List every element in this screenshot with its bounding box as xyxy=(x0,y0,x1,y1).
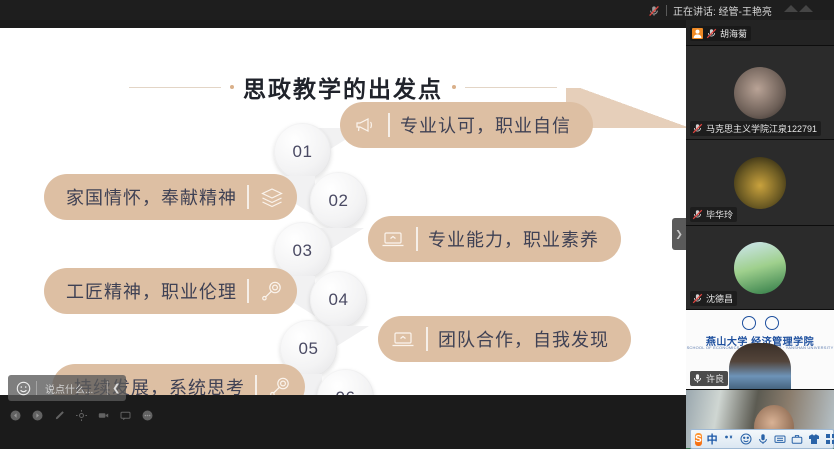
speaking-label: 正在讲话: 经管-王艳亮 xyxy=(673,3,772,18)
magnifier-icon xyxy=(267,374,293,395)
megaphone-icon xyxy=(352,112,378,138)
mic-muted-icon xyxy=(648,4,660,16)
pill-divider-06 xyxy=(255,375,257,395)
presentation-slide: 思政教学的出发点 01 02 03 04 05 06 xyxy=(0,28,686,395)
speaker-video-figure xyxy=(729,343,791,389)
divider xyxy=(666,5,667,16)
mic-muted-icon xyxy=(692,209,703,220)
slide-item-01: 专业认可，职业自信 xyxy=(340,102,593,148)
laser-icon[interactable] xyxy=(76,410,87,421)
meeting-window: 正在讲话: 经管-王艳亮 思政教学的出发点 01 02 xyxy=(0,0,834,449)
apps-icon[interactable] xyxy=(825,433,834,445)
next-icon[interactable] xyxy=(32,410,43,421)
participant-name-5: 许良 xyxy=(706,372,724,385)
avatar xyxy=(734,67,786,119)
slide-item-label-03: 专业能力，职业素养 xyxy=(428,226,599,252)
more-icon[interactable] xyxy=(142,410,153,421)
layers-icon xyxy=(259,184,285,210)
laptop-icon xyxy=(390,326,416,352)
sogou-logo-icon[interactable]: S xyxy=(695,433,702,446)
toolbox-icon[interactable] xyxy=(791,433,803,445)
participant-tile-1[interactable]: 胡海菊 xyxy=(686,20,834,46)
slide-item-label-04: 工匠精神，职业伦理 xyxy=(66,278,237,304)
participant-tile-3[interactable]: 毕华玲 xyxy=(686,140,834,226)
participant-tile-5[interactable]: 燕山大学 经济管理学院 SCHOOL OF ECONOMICS AND MANA… xyxy=(686,310,834,390)
seal-icon-2 xyxy=(765,316,779,330)
collapse-rail-button[interactable]: ❯ xyxy=(672,218,686,250)
slide-item-label-01: 专业认可，职业自信 xyxy=(400,112,571,138)
number-node-01: 01 xyxy=(274,123,331,180)
participant-name-chip-3: 毕华玲 xyxy=(690,207,737,222)
participant-tile-4[interactable]: 沈德昌 xyxy=(686,226,834,310)
skin-icon[interactable] xyxy=(808,433,820,445)
audio-wave-icon xyxy=(784,1,818,19)
slide-item-02: 家国情怀，奉献精神 xyxy=(44,174,297,220)
chat-placeholder[interactable]: 说点什么... xyxy=(37,381,107,396)
pen-icon[interactable] xyxy=(54,410,65,421)
avatar xyxy=(734,157,786,209)
participant-name-1: 胡海菊 xyxy=(720,27,747,40)
avatar xyxy=(734,242,786,294)
slide-item-04: 工匠精神，职业伦理 xyxy=(44,268,297,314)
prev-icon[interactable] xyxy=(10,410,21,421)
number-node-04: 04 xyxy=(310,271,367,328)
seal-icon-1 xyxy=(742,316,756,330)
participant-tile-2[interactable]: 马克思主义学院江泉122791 xyxy=(686,46,834,140)
mic-muted-icon xyxy=(692,123,703,134)
slide-item-05: 团队合作，自我发现 xyxy=(378,316,631,362)
pill-divider-05 xyxy=(426,327,428,351)
mic-muted-icon xyxy=(706,28,717,39)
note-icon[interactable] xyxy=(120,410,131,421)
pill-divider-02 xyxy=(247,185,249,209)
slide-item-03: 专业能力，职业素养 xyxy=(368,216,621,262)
smiley-icon[interactable] xyxy=(10,375,36,401)
sogou-ime-toolbar[interactable]: S 中 xyxy=(690,429,834,449)
keyboard-icon[interactable] xyxy=(774,433,786,445)
pill-divider-01 xyxy=(388,113,390,137)
chevron-left-icon[interactable]: ❮ xyxy=(108,375,124,401)
participant-name-chip-4: 沈德昌 xyxy=(690,291,737,306)
stage-toolbar[interactable] xyxy=(10,410,153,421)
shared-screen-stage[interactable]: 思政教学的出发点 01 02 03 04 05 06 xyxy=(0,0,686,449)
halfwidth-icon[interactable] xyxy=(723,433,735,445)
mic-muted-icon xyxy=(692,293,703,304)
number-node-02: 02 xyxy=(310,172,367,229)
smiley-icon[interactable] xyxy=(740,433,752,445)
host-badge-icon xyxy=(692,28,703,39)
participant-name-chip-5: 许良 xyxy=(690,371,728,386)
ime-mode-label[interactable]: 中 xyxy=(707,431,718,447)
magnifier-icon xyxy=(259,278,285,304)
participant-name-chip-1: 胡海菊 xyxy=(690,26,751,41)
chevron-right-icon: ❯ xyxy=(675,229,683,240)
camera-icon[interactable] xyxy=(98,410,109,421)
participant-name-4: 沈德昌 xyxy=(706,292,733,305)
participant-name-chip-2: 马克思主义学院江泉122791 xyxy=(690,121,821,136)
participant-name-3: 毕华玲 xyxy=(706,208,733,221)
number-node-06: 06 xyxy=(317,369,374,395)
mic-on-icon xyxy=(692,373,703,384)
university-seals xyxy=(686,316,834,330)
speaking-indicator-bar: 正在讲话: 经管-王艳亮 xyxy=(0,0,834,20)
laptop-icon xyxy=(380,226,406,252)
chat-input-bar[interactable]: 说点什么... ❮ xyxy=(8,375,126,401)
pill-divider-03 xyxy=(416,227,418,251)
participant-name-2: 马克思主义学院江泉122791 xyxy=(706,122,817,135)
slide-item-label-02: 家国情怀，奉献精神 xyxy=(66,184,237,210)
participant-rail[interactable]: 胡海菊 马克思主义学院江泉122791 毕华玲 xyxy=(686,20,834,449)
pill-divider-04 xyxy=(247,279,249,303)
slide-item-label-05: 团队合作，自我发现 xyxy=(438,326,609,352)
mic-icon[interactable] xyxy=(757,433,769,445)
